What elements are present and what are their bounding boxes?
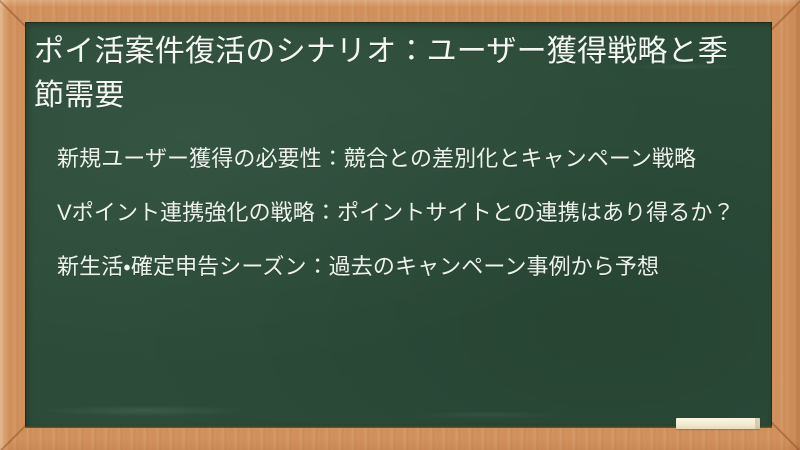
list-item[interactable]: 新生活・確定申告シーズン：過去のキャンペーン事例から予想 xyxy=(57,248,746,286)
chalk-stick-icon xyxy=(676,418,760,429)
list-item[interactable]: 新規ユーザー獲得の必要性：競合との差別化とキャンペーン戦略 xyxy=(57,140,746,178)
list-item[interactable]: Vポイント連携強化の戦略：ポイントサイトとの連携はあり得るか？ xyxy=(57,194,746,232)
topic-list: 新規ユーザー獲得の必要性：競合との差別化とキャンペーン戦略 Vポイント連携強化の… xyxy=(34,140,746,286)
chalkboard-surface: ポイ活案件復活のシナリオ：ユーザー獲得戦略と季節需要 新規ユーザー獲得の必要性：… xyxy=(25,22,772,427)
page-title: ポイ活案件復活のシナリオ：ユーザー獲得戦略と季節需要 xyxy=(34,30,746,118)
chalkboard-card: ポイ活案件復活のシナリオ：ユーザー獲得戦略と季節需要 新規ユーザー獲得の必要性：… xyxy=(0,0,800,450)
board-content: ポイ活案件復活のシナリオ：ユーザー獲得戦略と季節需要 新規ユーザー獲得の必要性：… xyxy=(25,22,772,286)
board-ledge-seam xyxy=(25,426,772,428)
